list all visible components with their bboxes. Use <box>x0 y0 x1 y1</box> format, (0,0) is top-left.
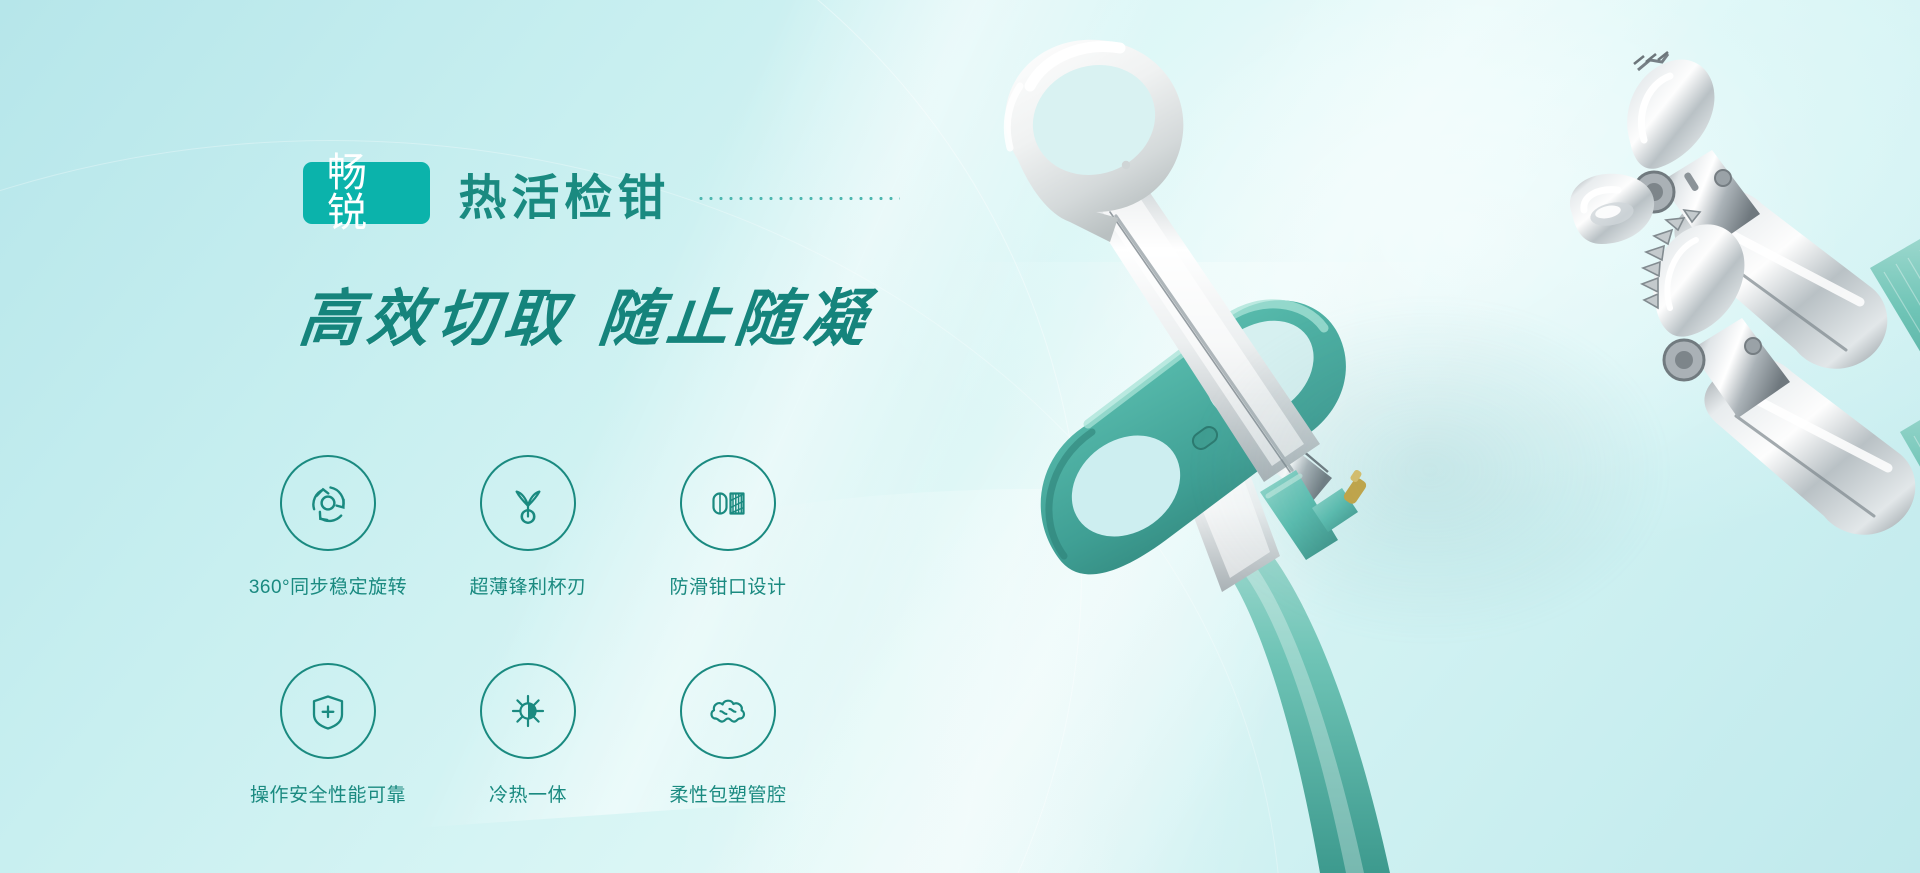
feature-label: 冷热一体 <box>489 780 567 807</box>
dotted-rule <box>696 197 900 200</box>
feature-row-1: 360°同步稳定旋转 超薄锋利杯刃 <box>228 455 848 599</box>
brand-badge: 畅锐 <box>303 162 430 224</box>
hot-cold-icon <box>480 663 576 759</box>
feature-label: 360°同步稳定旋转 <box>249 572 407 599</box>
product-shadow <box>1110 240 1750 700</box>
feature-label: 柔性包塑管腔 <box>669 780 786 807</box>
feature-item-lumen: 柔性包塑管腔 <box>628 663 828 807</box>
feature-item-blade: 超薄锋利杯刃 <box>428 455 628 599</box>
feature-label: 超薄锋利杯刃 <box>469 572 586 599</box>
sharp-cup-blade-icon <box>480 455 576 551</box>
feature-label: 操作安全性能可靠 <box>250 780 406 807</box>
feature-item-hotcold: 冷热一体 <box>428 663 628 807</box>
rotation-360-icon <box>280 455 376 551</box>
feature-grid: 360°同步稳定旋转 超薄锋利杯刃 <box>228 455 848 807</box>
banner-text-content: 畅锐 热活检钳 高效切取 随止随凝 <box>0 0 900 873</box>
flexible-coated-lumen-icon <box>680 663 776 759</box>
tagline: 高效切取 随止随凝 <box>295 268 876 358</box>
feature-label: 防滑钳口设计 <box>669 572 786 599</box>
feature-item-safety: 操作安全性能可靠 <box>228 663 428 807</box>
feature-item-rotation: 360°同步稳定旋转 <box>228 455 428 599</box>
title-row: 畅锐 热活检钳 <box>303 158 900 228</box>
feature-row-2: 操作安全性能可靠 <box>228 663 848 807</box>
anti-slip-jaw-icon <box>680 455 776 551</box>
product-photo <box>960 0 1920 873</box>
shield-plus-safety-icon <box>280 663 376 759</box>
product-banner: 畅锐 热活检钳 高效切取 随止随凝 <box>0 0 1920 873</box>
product-title: 热活检钳 <box>458 158 670 228</box>
feature-item-antislip: 防滑钳口设计 <box>628 455 828 599</box>
